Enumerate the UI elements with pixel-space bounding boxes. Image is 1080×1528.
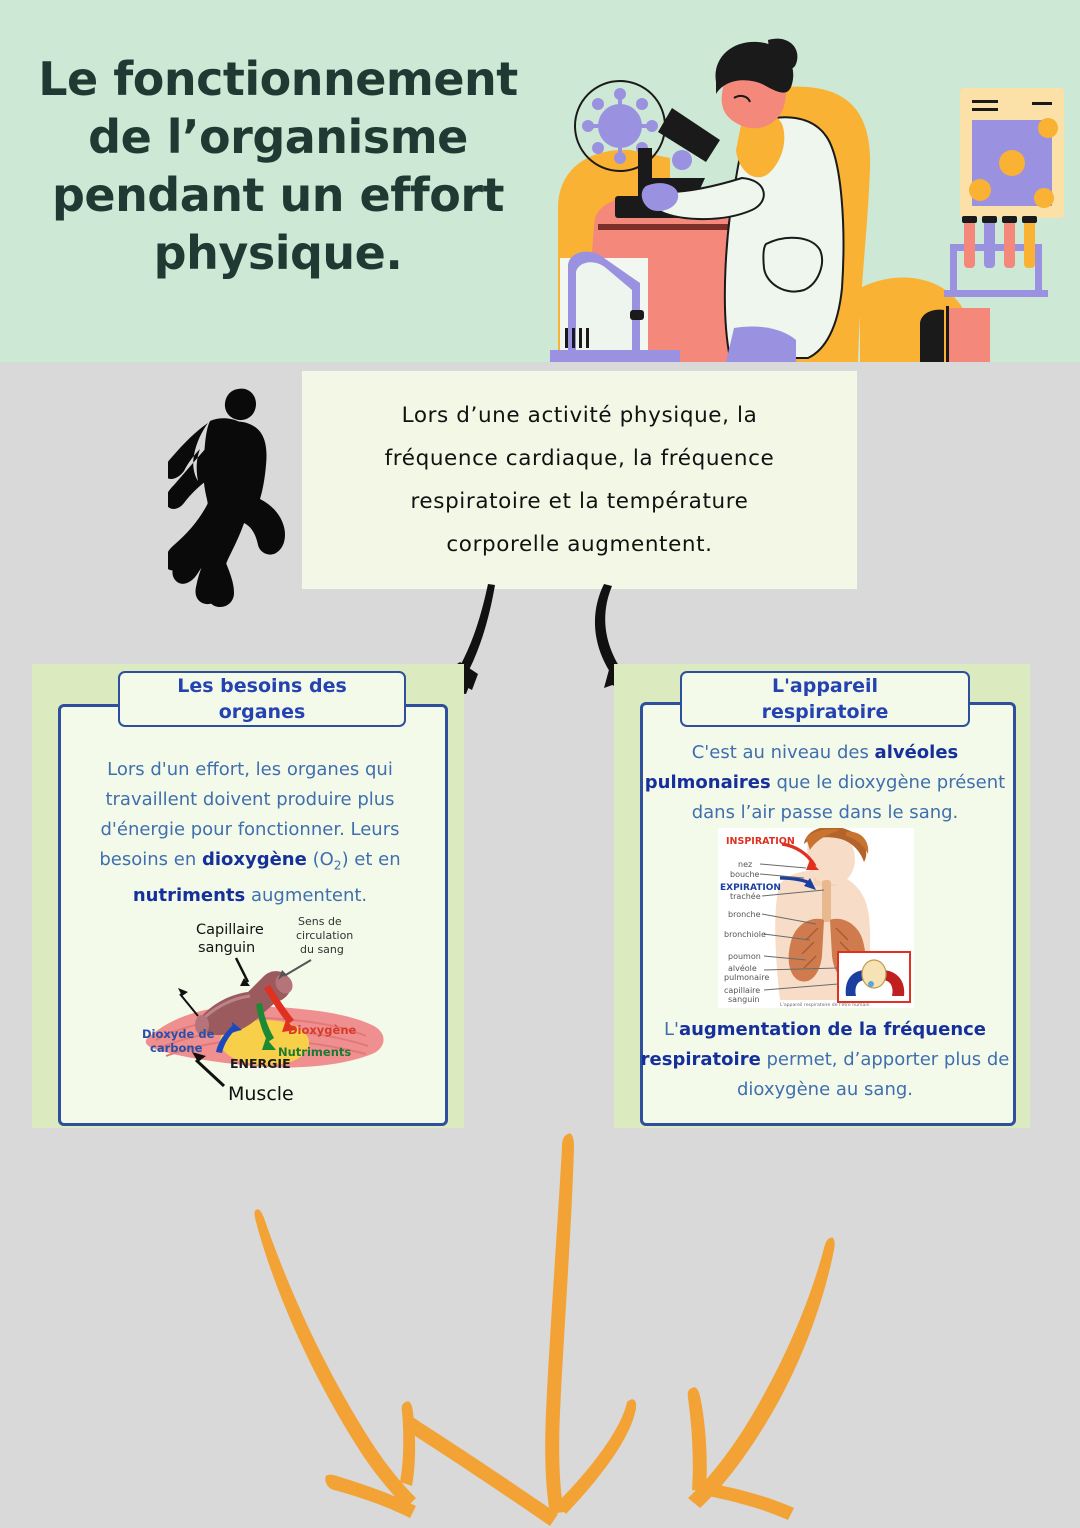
label-bronchiole: bronchiole — [724, 930, 766, 939]
intro-line-4: corporelle augmentent. — [345, 523, 815, 566]
label-energie: ENERGIE — [230, 1056, 291, 1071]
card-body-line-3: d'énergie pour fonctionner. Leurs — [78, 815, 422, 845]
page-title-line-3: pendant un effort — [0, 166, 556, 224]
muscle-capillary-exchange-diagram: Capillaire sanguin Sens de circulation d… — [136, 908, 416, 1108]
card-body-besoins-organes: Lors d'un effort, les organes qui travai… — [78, 755, 422, 911]
card-title-line-1: L'appareil — [762, 673, 889, 699]
label-bouche: bouche — [730, 870, 760, 879]
page-title-line-1: Le fonctionnement — [0, 50, 556, 108]
card-footer-appareil-respiratoire: L'augmentation de la fréquence respirato… — [628, 1015, 1022, 1105]
label-muscle: Muscle — [228, 1083, 294, 1105]
card-body-line-1: Lors d'un effort, les organes qui — [78, 755, 422, 785]
page-title: Le fonctionnement de l’organisme pendant… — [0, 50, 556, 282]
intro-line-1: Lors d’une activité physique, la — [345, 394, 815, 437]
human-respiratory-system-diagram: INSPIRATION nez bouche EXPIRATION traché… — [718, 828, 914, 1008]
card-body-line-3: dans l’air passe dans le sang. — [632, 798, 1018, 828]
figure-caption: L'appareil respiratoire de l'être humain — [780, 1001, 870, 1008]
card-body-line-2: travaillent doivent produire plus — [78, 785, 422, 815]
intro-text: Lors d’une activité physique, la fréquen… — [345, 394, 815, 566]
label-sens-circulation: Sens de — [298, 915, 342, 928]
card-body-line-2: pulmonaires que le dioxygène présent — [632, 768, 1018, 798]
intro-line-3: respiratoire et la température — [345, 480, 815, 523]
page-title-line-4: physique. — [0, 224, 556, 282]
label-trachee: trachée — [730, 891, 761, 901]
orange-arrow-right — [688, 1238, 835, 1521]
runner-silhouette-icon — [168, 385, 298, 615]
header-banner: Le fonctionnement de l’organisme pendant… — [0, 0, 1080, 362]
orange-arrow-left — [255, 1209, 417, 1518]
card-title-line-2: respiratoire — [762, 699, 889, 725]
svg-text:sanguin: sanguin — [728, 995, 760, 1004]
svg-text:du sang: du sang — [300, 943, 344, 956]
svg-text:carbone: carbone — [150, 1041, 203, 1055]
label-capillaire-sanguin: Capillaire — [196, 922, 264, 938]
label-inspiration: INSPIRATION — [726, 836, 795, 847]
label-nez: nez — [738, 860, 752, 869]
label-alveole: alvéole — [728, 963, 757, 973]
intro-line-2: fréquence cardiaque, la fréquence — [345, 437, 815, 480]
page-title-line-2: de l’organisme — [0, 108, 556, 166]
card-title-line-2: organes — [177, 699, 347, 725]
label-poumon: poumon — [728, 952, 761, 961]
svg-text:sanguin: sanguin — [198, 940, 255, 956]
card-title-besoins-organes: Les besoins des organes — [118, 671, 406, 727]
svg-text:circulation: circulation — [296, 929, 353, 942]
label-bronche: bronche — [728, 910, 761, 919]
card-body-line-5: nutriments augmentent. — [78, 881, 422, 911]
label-capillaire-sanguin: capillaire — [724, 986, 760, 995]
orange-arrows-group — [230, 1130, 850, 1528]
card-body-line-1: C'est au niveau des alvéoles — [632, 738, 1018, 768]
intro-text-box: Lors d’une activité physique, la fréquen… — [302, 371, 857, 589]
card-title-appareil-respiratoire: L'appareil respiratoire — [680, 671, 970, 727]
card-footer-line-1: L'augmentation de la fréquence — [628, 1015, 1022, 1045]
orange-arrow-middle — [405, 1134, 636, 1527]
svg-text:pulmonaire: pulmonaire — [724, 973, 769, 982]
card-title-line-1: Les besoins des — [177, 673, 347, 699]
card-footer-line-3: dioxygène au sang. — [628, 1075, 1022, 1105]
card-body-line-4: besoins en dioxygène (O2) et en — [78, 845, 422, 881]
card-body-appareil-respiratoire: C'est au niveau des alvéoles pulmonaires… — [632, 738, 1018, 828]
label-dioxyde-carbone: Dioxyde de — [142, 1027, 215, 1041]
label-dioxygene: Dioxygène — [288, 1023, 357, 1037]
card-footer-line-2: respiratoire permet, d’apporter plus de — [628, 1045, 1022, 1075]
scientist-microscope-illustration — [520, 28, 1080, 362]
